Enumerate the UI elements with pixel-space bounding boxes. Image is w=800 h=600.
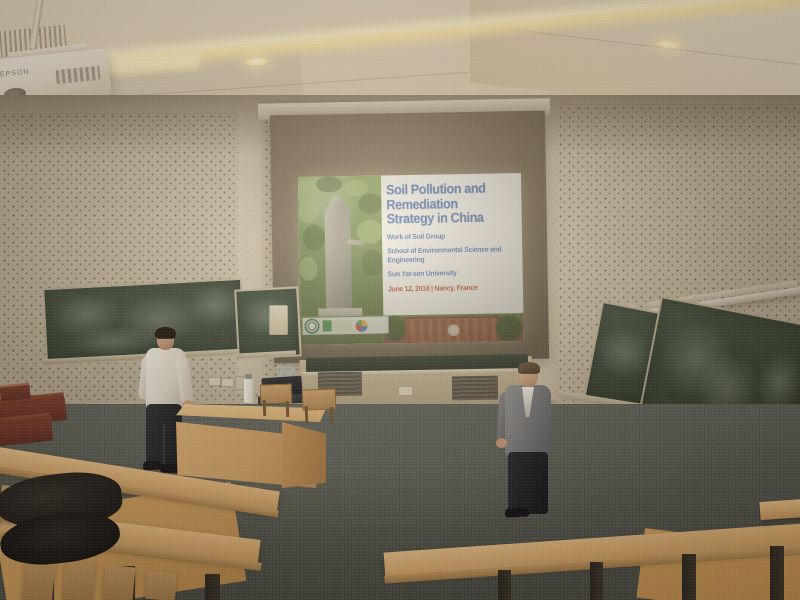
presenter-left-leg-seam <box>163 424 165 466</box>
wall-shading <box>0 95 800 435</box>
bench-leg <box>682 554 696 600</box>
lectern-desk[interactable] <box>176 404 326 489</box>
seat-back[interactable] <box>145 571 177 600</box>
bench-leg <box>590 562 603 600</box>
presenter-right-hair <box>518 362 540 374</box>
seat-back[interactable] <box>62 560 95 600</box>
glasses-icon <box>158 338 173 343</box>
water-bottle-cap <box>245 374 252 379</box>
right-bench-row[interactable] <box>759 498 800 520</box>
lectern-side-panel <box>282 422 326 488</box>
bench-leg <box>770 546 784 600</box>
bench-leg <box>498 570 511 600</box>
presenter-right-hand <box>496 438 507 448</box>
seat-back[interactable] <box>103 565 136 600</box>
lecture-hall-photo: EPSON <box>0 0 800 600</box>
water-bottle[interactable] <box>244 378 253 403</box>
presenter-right-shoe <box>505 507 529 517</box>
wooden-step <box>0 382 31 401</box>
bench-leg <box>205 574 220 600</box>
presenter-right-trousers <box>508 452 548 514</box>
